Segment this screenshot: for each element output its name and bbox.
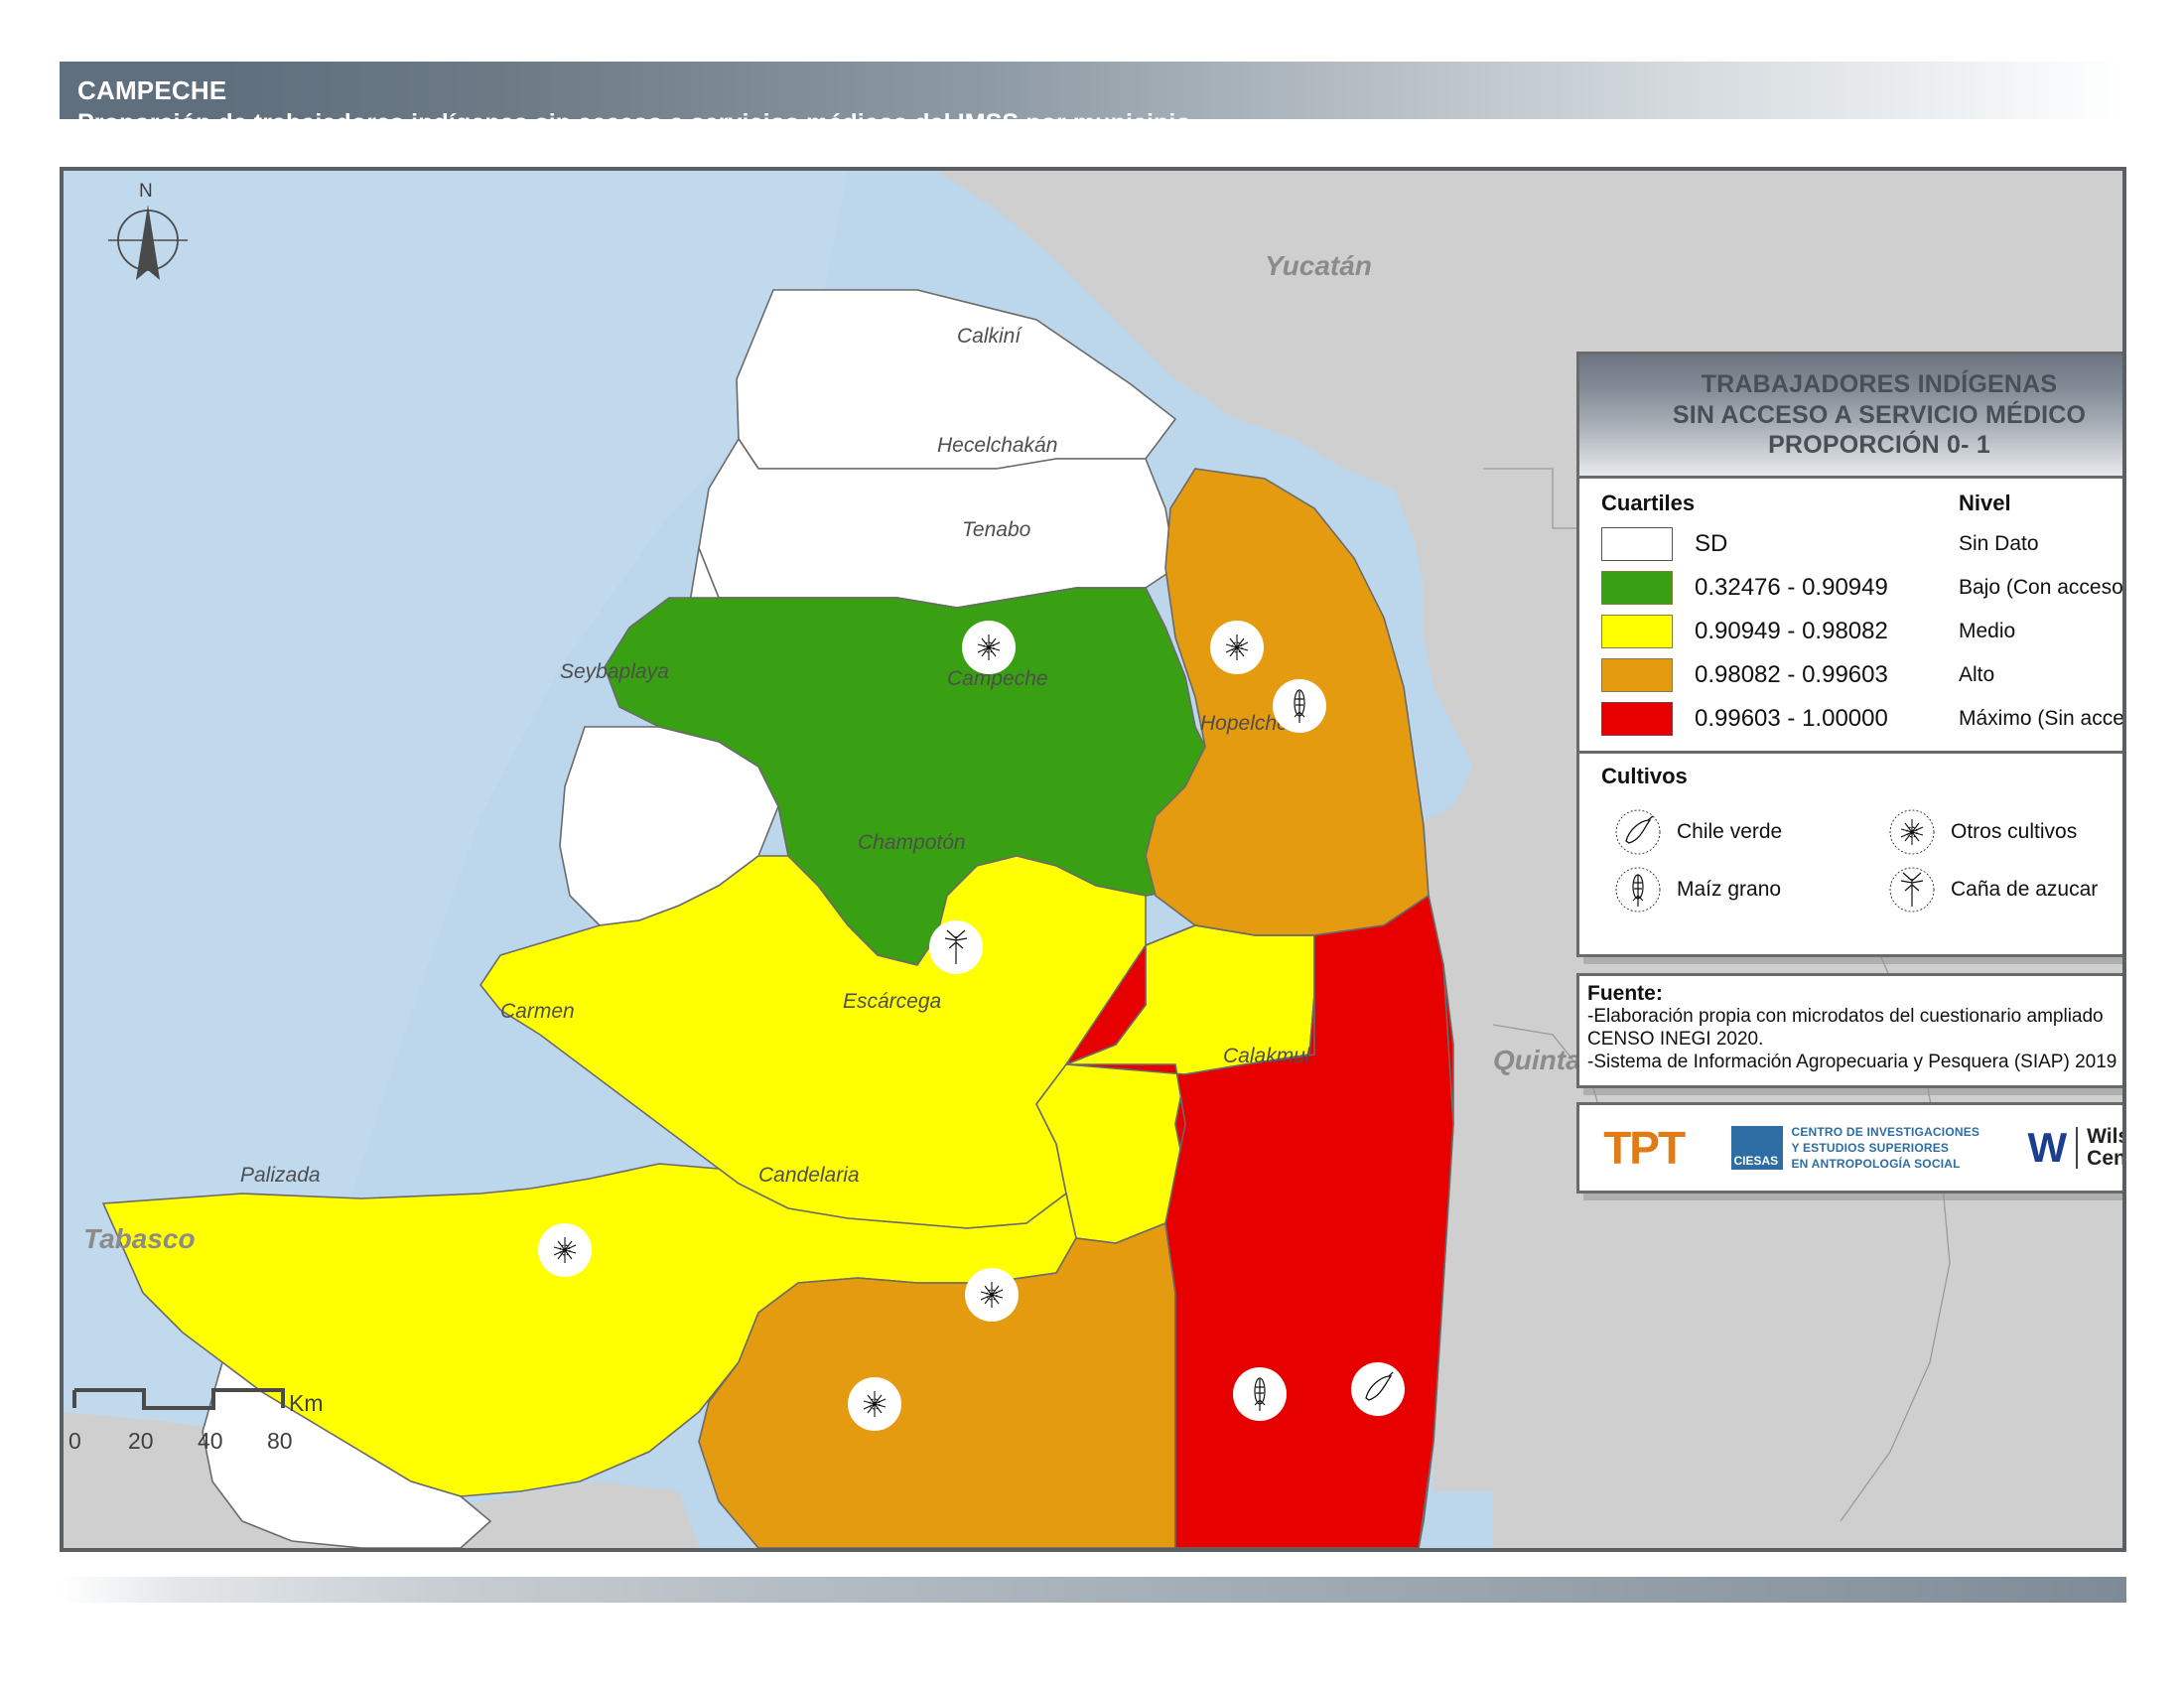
crop-marker-chile-verde-calakmul[interactable] (1351, 1362, 1405, 1416)
logos-box: TPT CIESAS CENTRO DE INVESTIGACIONES Y E… (1576, 1102, 2126, 1194)
legend-body: Cuartiles Nivel SD Sin Dato 0.32476 - 0.… (1579, 479, 2126, 741)
legend-range: 0.32476 - 0.90949 (1695, 574, 1959, 602)
chile-verde-icon (1613, 807, 1663, 857)
scale-tick-80: 80 (267, 1428, 293, 1455)
crop-marker-cana-azucar-champoton[interactable] (929, 920, 983, 974)
crop-marker-otros-cultivos-escarcega[interactable] (965, 1268, 1019, 1322)
scale-tick-0: 0 (68, 1428, 81, 1455)
cultivo-item-otros-cultivos[interactable]: Otros cultivos (1887, 803, 2126, 861)
legend-range: SD (1695, 530, 1959, 558)
bottom-band (60, 1577, 2126, 1603)
legend-range: 0.90949 - 0.98082 (1695, 618, 1959, 645)
legend-range: 0.99603 - 1.00000 (1695, 705, 1959, 733)
wilson-line-1: Wilson (2087, 1126, 2126, 1148)
wilson-divider (2076, 1127, 2078, 1169)
legend-header-cuartiles: Cuartiles (1601, 491, 1959, 516)
fuente-box: Fuente: -Elaboración propia con microdat… (1576, 973, 2126, 1088)
cana-azucar-icon (1887, 865, 1937, 914)
crop-marker-otros-cultivos-carmen[interactable] (538, 1223, 592, 1277)
legend-nivel: Bajo (Con acceso) (1959, 576, 2126, 600)
otros-cultivos-icon (1887, 807, 1937, 857)
legend-nivel: Alto (1959, 663, 1994, 687)
legend-nivel: Sin Dato (1959, 532, 2039, 556)
maiz-grano-icon (1613, 865, 1663, 914)
wilson-text: Wilson Center (2087, 1126, 2126, 1170)
crop-marker-maiz-grano-hopelchen[interactable] (1273, 679, 1326, 733)
fuente-line-3: -Sistema de Información Agropecuaria y P… (1587, 1052, 2126, 1074)
fuente-title: Fuente: (1587, 982, 2126, 1006)
wilson-line-2: Center (2087, 1148, 2126, 1170)
fuente-line-1: -Elaboración propia con microdatos del c… (1587, 1006, 2126, 1029)
legend-swatch-medio (1601, 615, 1673, 648)
legend-nivel: Máximo (Sin acceso) (1959, 707, 2126, 731)
map-frame[interactable]: Yucatán Quintana Roo Tabasco Calkiní Hec… (60, 167, 2126, 1552)
legend-header-nivel: Nivel (1959, 491, 2011, 516)
legend-row[interactable]: 0.90949 - 0.98082 Medio (1601, 610, 2126, 653)
legend-title-line1: TRABAJADORES INDÍGENAS (1702, 369, 2058, 400)
cultivo-label: Caña de azucar (1951, 878, 2098, 902)
cultivo-item-maiz-grano[interactable]: Maíz grano (1613, 861, 1887, 918)
cultivos-grid: Chile verde Otros cu (1579, 789, 2126, 930)
ciesas-line-3: EN ANTROPOLOGÍA SOCIAL (1791, 1156, 1979, 1172)
page-title: CAMPECHE (77, 75, 226, 106)
cultivo-label: Chile verde (1677, 820, 1782, 844)
legend-row[interactable]: 0.99603 - 1.00000 Máximo (Sin acceso) (1601, 697, 2126, 741)
tpt-logo: TPT (1603, 1121, 1684, 1175)
ciesas-line-1: CENTRO DE INVESTIGACIONES (1791, 1124, 1979, 1140)
legend-row[interactable]: SD Sin Dato (1601, 522, 2126, 566)
fuente-line-2: CENSO INEGI 2020. (1587, 1029, 2126, 1052)
legend-title-line2: SIN ACCESO A SERVICIO MÉDICO (1673, 400, 2086, 431)
wilson-center-logo: W Wilson Center (2028, 1126, 2126, 1170)
scale-bar: Km 0 20 40 80 (68, 1382, 366, 1457)
crop-marker-maiz-grano-calakmul[interactable] (1233, 1367, 1287, 1421)
legend-title-line3: PROPORCIÓN 0- 1 (1768, 430, 1990, 461)
cultivos-heading: Cultivos (1579, 754, 2126, 789)
ciesas-line-2: Y ESTUDIOS SUPERIORES (1791, 1140, 1979, 1156)
scale-unit-label: Km (289, 1390, 324, 1417)
ciesas-text: CENTRO DE INVESTIGACIONES Y ESTUDIOS SUP… (1791, 1124, 1979, 1173)
north-arrow: N (103, 183, 193, 302)
north-label: N (139, 181, 153, 203)
cultivo-label: Otros cultivos (1951, 820, 2077, 844)
map-canvas[interactable]: Yucatán Quintana Roo Tabasco Calkiní Hec… (64, 171, 2122, 1548)
legend-range: 0.98082 - 0.99603 (1695, 661, 1959, 689)
crop-marker-otros-cultivos-campeche[interactable] (962, 621, 1016, 674)
legend-swatch-bajo (1601, 571, 1673, 605)
legend-header: TRABAJADORES INDÍGENAS SIN ACCESO A SERV… (1579, 354, 2126, 479)
crop-marker-otros-cultivos-candelaria[interactable] (848, 1377, 901, 1431)
scale-tick-20: 20 (128, 1428, 154, 1455)
map-page: CAMPECHE Proporción de trabajadores indí… (0, 0, 2184, 1688)
ciesas-mark-icon: CIESAS (1731, 1126, 1783, 1170)
wilson-w-icon: W (2028, 1127, 2068, 1169)
legend-nivel: Medio (1959, 620, 2015, 643)
ciesas-logo: CIESAS CENTRO DE INVESTIGACIONES Y ESTUD… (1731, 1124, 1979, 1173)
crop-marker-otros-cultivos-hopelchen[interactable] (1210, 621, 1264, 674)
ciesas-abbr: CIESAS (1733, 1154, 1778, 1168)
legend-column-headers: Cuartiles Nivel (1601, 491, 2126, 516)
cultivo-item-cana-azucar[interactable]: Caña de azucar (1887, 861, 2126, 918)
legend-swatch-sin-dato (1601, 527, 1673, 561)
legend-row[interactable]: 0.32476 - 0.90949 Bajo (Con acceso) (1601, 566, 2126, 610)
cultivo-label: Maíz grano (1677, 878, 1781, 902)
legend-swatch-alto (1601, 658, 1673, 692)
legend-row[interactable]: 0.98082 - 0.99603 Alto (1601, 653, 2126, 697)
page-subtitle: Proporción de trabajadores indígenas sin… (77, 109, 1191, 138)
cultivo-item-chile-verde[interactable]: Chile verde (1613, 803, 1887, 861)
legend-swatch-maximo (1601, 702, 1673, 736)
legend-panel: TRABAJADORES INDÍGENAS SIN ACCESO A SERV… (1576, 352, 2126, 957)
scale-tick-40: 40 (198, 1428, 223, 1455)
